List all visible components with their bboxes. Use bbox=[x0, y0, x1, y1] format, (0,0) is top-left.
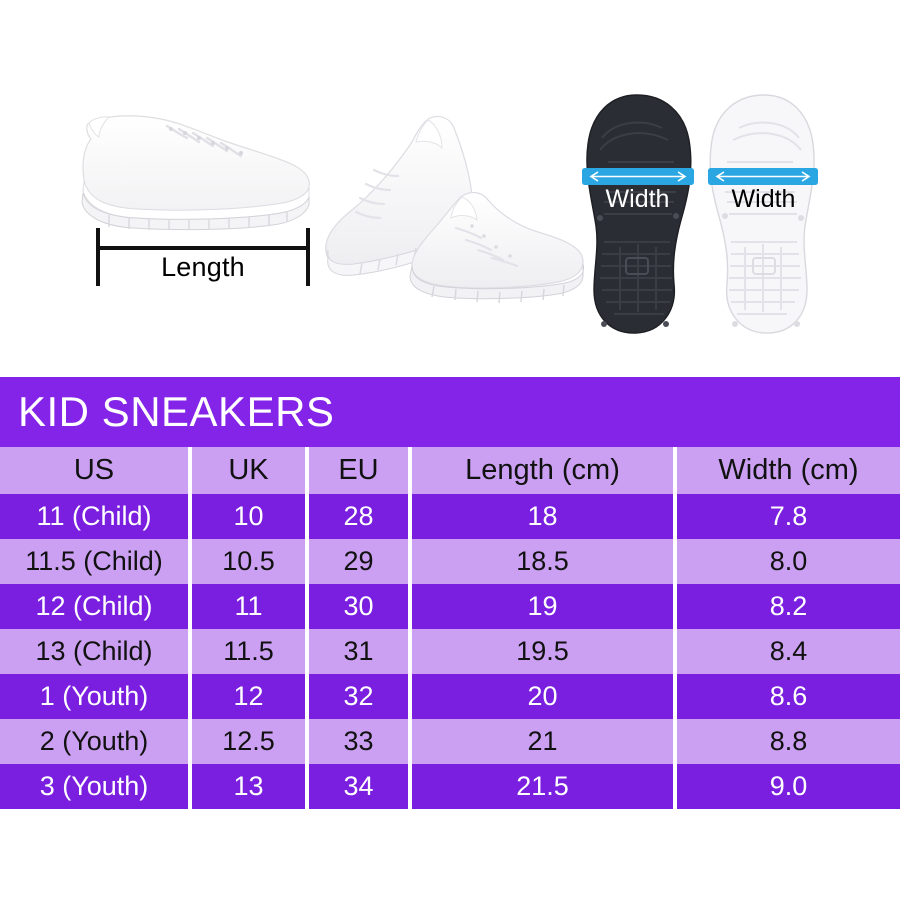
cell-uk: 10 bbox=[190, 494, 307, 539]
product-illustrations: Length bbox=[0, 0, 900, 375]
cell-uk: 13 bbox=[190, 764, 307, 809]
light-sole-image: Width bbox=[706, 92, 821, 337]
column-header-eu: EU bbox=[307, 447, 410, 494]
width-label-dark: Width bbox=[580, 184, 695, 214]
cell-us: 11 (Child) bbox=[0, 494, 190, 539]
cell-us: 3 (Youth) bbox=[0, 764, 190, 809]
cell-us: 11.5 (Child) bbox=[0, 539, 190, 584]
cell-width: 9.0 bbox=[675, 764, 900, 809]
cell-length: 20 bbox=[410, 674, 675, 719]
cell-us: 1 (Youth) bbox=[0, 674, 190, 719]
cell-eu: 30 bbox=[307, 584, 410, 629]
table-row: 1 (Youth) 12 32 20 8.6 bbox=[0, 674, 900, 719]
bracket-bar bbox=[96, 246, 310, 250]
cell-length: 21.5 bbox=[410, 764, 675, 809]
cell-width: 8.4 bbox=[675, 629, 900, 674]
table-row: 3 (Youth) 13 34 21.5 9.0 bbox=[0, 764, 900, 809]
size-table: US UK EU Length (cm) Width (cm) 11 (Chil… bbox=[0, 447, 900, 809]
table-row: 11.5 (Child) 10.5 29 18.5 8.0 bbox=[0, 539, 900, 584]
table-row: 12 (Child) 11 30 19 8.2 bbox=[0, 584, 900, 629]
cell-eu: 34 bbox=[307, 764, 410, 809]
cell-uk: 11 bbox=[190, 584, 307, 629]
cell-width: 8.2 bbox=[675, 584, 900, 629]
cell-uk: 10.5 bbox=[190, 539, 307, 584]
length-label: Length bbox=[96, 252, 310, 283]
column-header-width: Width (cm) bbox=[675, 447, 900, 494]
column-header-length: Length (cm) bbox=[410, 447, 675, 494]
width-label-light: Width bbox=[706, 184, 821, 214]
cell-uk: 12.5 bbox=[190, 719, 307, 764]
cell-us: 13 (Child) bbox=[0, 629, 190, 674]
sneaker-pair-image bbox=[322, 100, 590, 315]
cell-us: 12 (Child) bbox=[0, 584, 190, 629]
column-header-us: US bbox=[0, 447, 190, 494]
width-arrow-light bbox=[708, 168, 818, 185]
cell-length: 21 bbox=[410, 719, 675, 764]
cell-width: 8.8 bbox=[675, 719, 900, 764]
cell-length: 18.5 bbox=[410, 539, 675, 584]
cell-length: 19 bbox=[410, 584, 675, 629]
table-header-row: US UK EU Length (cm) Width (cm) bbox=[0, 447, 900, 494]
cell-eu: 29 bbox=[307, 539, 410, 584]
cell-width: 7.8 bbox=[675, 494, 900, 539]
cell-width: 8.0 bbox=[675, 539, 900, 584]
dark-sole-image: Width bbox=[580, 92, 695, 337]
sneaker-side-view-image bbox=[75, 105, 325, 235]
cell-eu: 31 bbox=[307, 629, 410, 674]
cell-width: 8.6 bbox=[675, 674, 900, 719]
cell-length: 18 bbox=[410, 494, 675, 539]
size-chart-page: Length bbox=[0, 0, 900, 900]
width-arrow-dark bbox=[582, 168, 694, 185]
sole-width-illustration: Width bbox=[580, 92, 830, 337]
cell-uk: 12 bbox=[190, 674, 307, 719]
table-row: 13 (Child) 11.5 31 19.5 8.4 bbox=[0, 629, 900, 674]
cell-eu: 33 bbox=[307, 719, 410, 764]
table-row: 2 (Youth) 12.5 33 21 8.8 bbox=[0, 719, 900, 764]
cell-uk: 11.5 bbox=[190, 629, 307, 674]
length-measurement-bracket: Length bbox=[96, 228, 310, 290]
cell-length: 19.5 bbox=[410, 629, 675, 674]
cell-us: 2 (Youth) bbox=[0, 719, 190, 764]
size-chart-section: KID SNEAKERS US UK EU Length (cm) Width … bbox=[0, 377, 900, 809]
chart-title: KID SNEAKERS bbox=[0, 377, 900, 447]
cell-eu: 28 bbox=[307, 494, 410, 539]
table-row: 11 (Child) 10 28 18 7.8 bbox=[0, 494, 900, 539]
column-header-uk: UK bbox=[190, 447, 307, 494]
cell-eu: 32 bbox=[307, 674, 410, 719]
